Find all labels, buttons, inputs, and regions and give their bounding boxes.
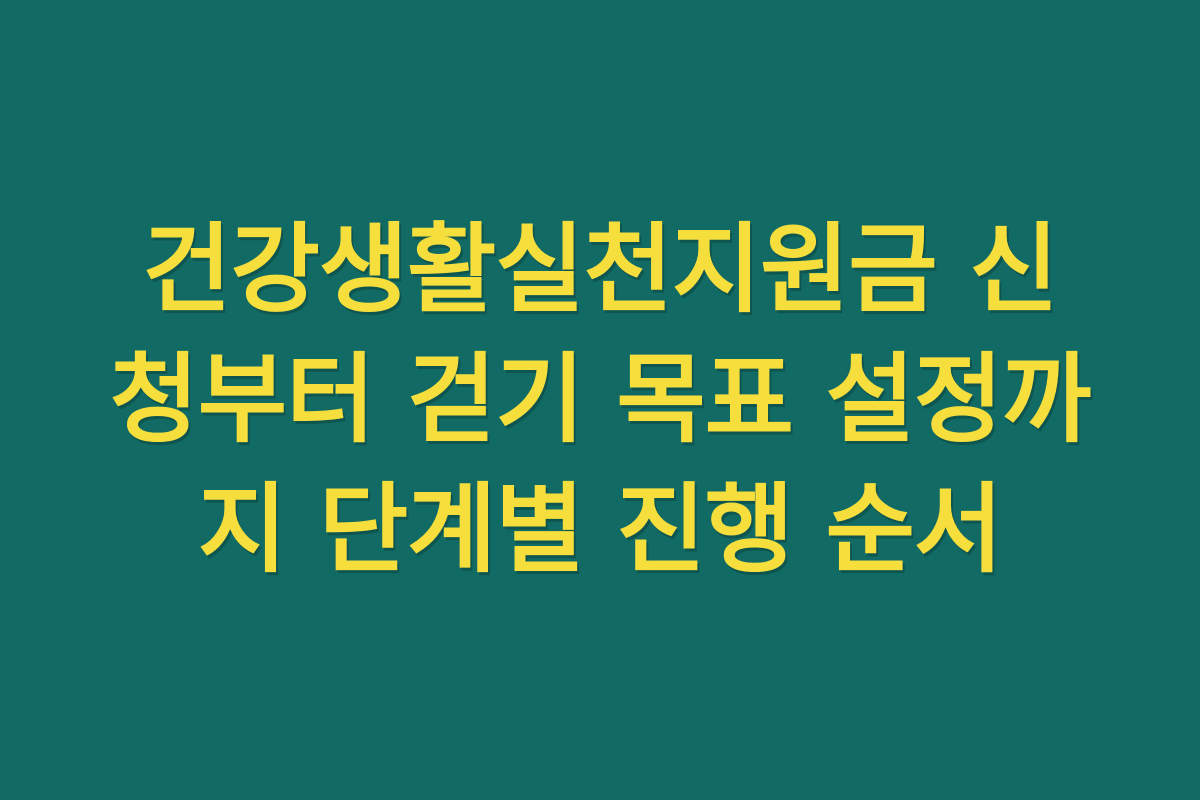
title-line-3: 지 단계별 진행 순서: [198, 465, 1002, 595]
thumbnail-card: 건강생활실천지원금 신 청부터 걷기 목표 설정까 지 단계별 진행 순서: [0, 0, 1200, 800]
title-line-2: 청부터 걷기 목표 설정까: [110, 335, 1091, 465]
page-title: 건강생활실천지원금 신 청부터 걷기 목표 설정까 지 단계별 진행 순서: [95, 205, 1105, 595]
title-line-1: 건강생활실천지원금 신: [142, 205, 1057, 335]
